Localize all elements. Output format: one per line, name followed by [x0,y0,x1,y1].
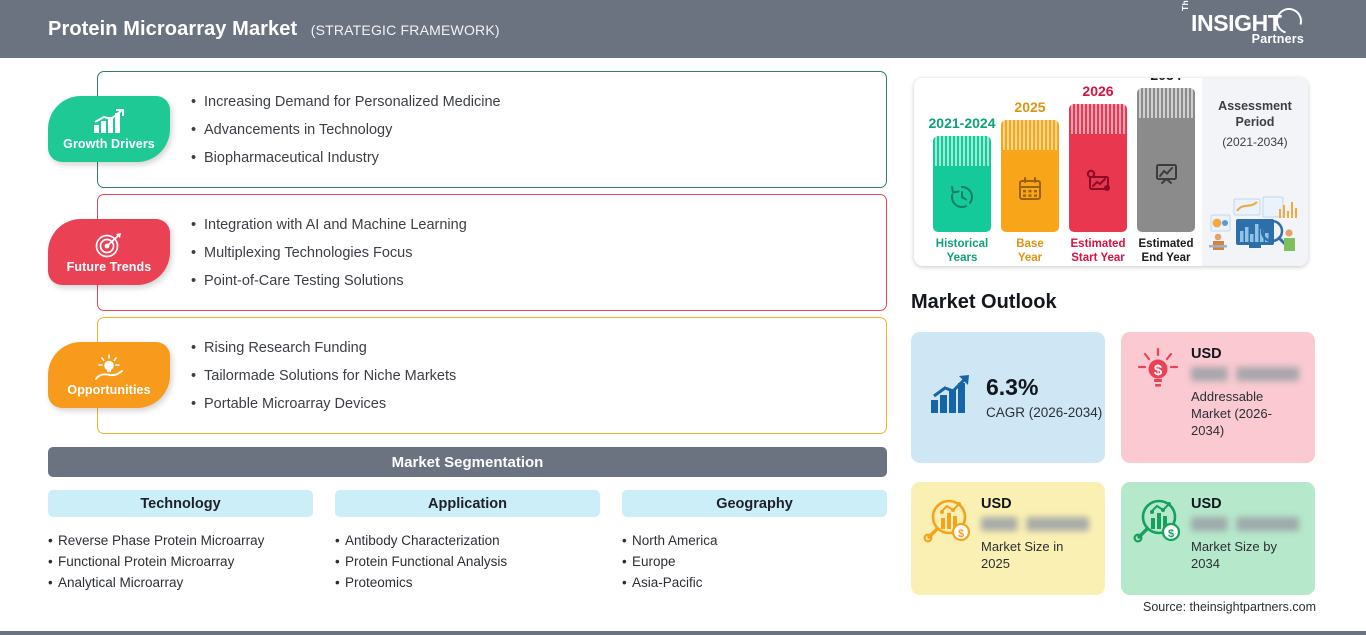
analytics-dashboard-illustration [1206,193,1304,260]
segment-tab-technology[interactable]: Technology [48,490,313,517]
badge-label: Future Trends [67,260,152,274]
timeline-caption: Estimated End Year [1139,237,1194,265]
svg-text:$: $ [1154,362,1163,379]
logo-partners-text: Partners [1252,32,1304,46]
cagr-caption: CAGR (2026-2034) [986,405,1102,420]
bar-stripe [1137,88,1195,118]
list-item: •North America [622,530,887,551]
badge-growth-drivers: Growth Drivers [48,96,170,162]
card-caption: Market Size by 2034 [1191,538,1299,572]
segment-tab-label: Technology [140,496,220,512]
segmentation-column-geography: Geography •North America •Europe •Asia-P… [622,490,887,593]
future-trends-list: •Integration with AI and Machine Learnin… [191,211,467,295]
currency-label: USD [981,496,1089,512]
market-outlook-title: Market Outlook [911,291,1057,314]
currency-label: USD [1191,346,1299,362]
blurred-value [1191,517,1299,531]
clock-history-icon [949,184,975,215]
lightbulb-hand-icon [93,354,125,381]
timeline-caption: Base Year [1016,237,1044,265]
bar-solid [1137,118,1195,232]
assessment-period-panel: 2021-2024 Historical [914,78,1308,266]
svg-text:$: $ [958,528,964,540]
list-item: •Advancements in Technology [191,116,501,144]
blurred-value [981,517,1089,531]
blurred-value [1191,367,1299,381]
timeline-bar-estimated-start: 2026 E [1069,104,1127,232]
panel-growth-drivers: •Increasing Demand for Personalized Medi… [97,71,887,188]
growth-drivers-list: •Increasing Demand for Personalized Medi… [191,88,501,172]
list-item: •Asia-Pacific [622,572,887,593]
market-segmentation-header: Market Segmentation [48,447,887,477]
segment-items-technology: •Reverse Phase Protein Microarray •Funct… [48,530,313,593]
bar-stripe [933,136,991,166]
card-addressable-market: $ USD Addressable Market (2026-2034) [1121,332,1315,463]
timeline-year: 2021-2024 [929,115,996,131]
assessment-title: Assessment Period [1218,98,1292,130]
timeline-bar-base-year: 2025 [1001,120,1059,232]
badge-opportunities: Opportunities [48,342,170,408]
opportunities-list: •Rising Research Funding •Tailormade Sol… [191,334,456,418]
bar-stripe [1069,104,1127,134]
list-item: •Biopharmaceutical Industry [191,144,501,172]
list-item: •Increasing Demand for Personalized Medi… [191,88,501,116]
list-item: •Integration with AI and Machine Learnin… [191,211,467,239]
timeline-bars: 2021-2024 Historical [914,78,1202,266]
list-item: •Analytical Microarray [48,572,313,593]
segment-tab-application[interactable]: Application [335,490,600,517]
bar-solid [1001,150,1059,232]
timeline-caption: Historical Years [936,237,988,265]
list-item: •Protein Functional Analysis [335,551,600,572]
assessment-period-label: Assessment Period (2021-2034) [1202,78,1308,266]
bar-body [933,136,991,232]
badge-future-trends: Future Trends [48,219,170,285]
timeline-bar-historical: 2021-2024 Historical [933,136,991,232]
list-item: •Point-of-Care Testing Solutions [191,267,467,295]
segmentation-column-application: Application •Antibody Characterization •… [335,490,600,593]
logo-the-text: The [1180,0,1190,11]
list-item: •Functional Protein Microarray [48,551,313,572]
timeline-year: 2034 [1150,78,1181,83]
list-item: •Portable Microarray Devices [191,390,456,418]
bar-chart-arrow-up-icon [929,374,975,421]
timeline-caption: Estimated Start Year [1071,237,1126,265]
cagr-value: 6.3% [986,375,1102,400]
panel-future-trends: •Integration with AI and Machine Learnin… [97,194,887,311]
bar-body [1001,120,1059,232]
insight-partners-logo: The INSIGHT Partners [1180,9,1308,49]
list-item: •Multiplexing Technologies Focus [191,239,467,267]
magnifier-chart-dollar-icon: $ [923,496,973,595]
list-item: •Europe [622,551,887,572]
bar-body [1137,88,1195,232]
page-header: Protein Microarray Market (STRATEGIC FRA… [0,0,1366,58]
list-item: •Proteomics [335,572,600,593]
bar-chart-growth-icon [92,108,126,135]
panel-opportunities: •Rising Research Funding •Tailormade Sol… [97,317,887,434]
segment-tab-label: Application [428,496,507,512]
page-title: Protein Microarray Market (STRATEGIC FRA… [0,18,500,41]
bar-body [1069,104,1127,232]
magnifier-chart-dollar-icon: $ [1133,496,1183,595]
bar-stripe [1001,120,1059,150]
list-item: •Antibody Characterization [335,530,600,551]
segment-items-application: •Antibody Characterization •Protein Func… [335,530,600,593]
card-market-size-2025: $ USD Market Size in 2025 [911,482,1105,595]
forecast-chart-icon [1085,168,1112,199]
timeline-year: 2025 [1014,99,1045,115]
source-text: Source: theinsightpartners.com [1143,600,1316,614]
segment-tab-geography[interactable]: Geography [622,490,887,517]
badge-label: Growth Drivers [63,137,155,151]
card-caption: Addressable Market (2026-2034) [1191,388,1299,439]
segment-items-geography: •North America •Europe •Asia-Pacific [622,530,887,593]
list-item: •Rising Research Funding [191,334,456,362]
monitor-chart-icon [1153,160,1180,191]
market-segmentation-title: Market Segmentation [392,454,544,471]
infographic-page: Protein Microarray Market (STRATEGIC FRA… [0,0,1366,635]
target-dart-icon [94,231,124,258]
timeline-bar-estimated-end: 2034 Estimated [1137,88,1195,232]
timeline-year: 2026 [1082,83,1113,99]
bar-solid [1069,134,1127,232]
bar-solid [933,166,991,232]
segment-tab-label: Geography [716,496,793,512]
currency-label: USD [1191,496,1299,512]
card-market-size-2034: $ USD Market Size by 2034 [1121,482,1315,595]
bulb-dollar-icon: $ [1133,346,1183,463]
svg-text:$: $ [1168,528,1174,540]
list-item: •Reverse Phase Protein Microarray [48,530,313,551]
segmentation-column-technology: Technology •Reverse Phase Protein Microa… [48,490,313,593]
card-caption: Market Size in 2025 [981,538,1089,572]
footer-bar [0,631,1366,635]
badge-label: Opportunities [67,383,150,397]
calendar-icon [1017,176,1043,207]
assessment-range: (2021-2034) [1222,135,1287,149]
card-cagr: 6.3% CAGR (2026-2034) [911,332,1105,463]
list-item: •Tailormade Solutions for Niche Markets [191,362,456,390]
